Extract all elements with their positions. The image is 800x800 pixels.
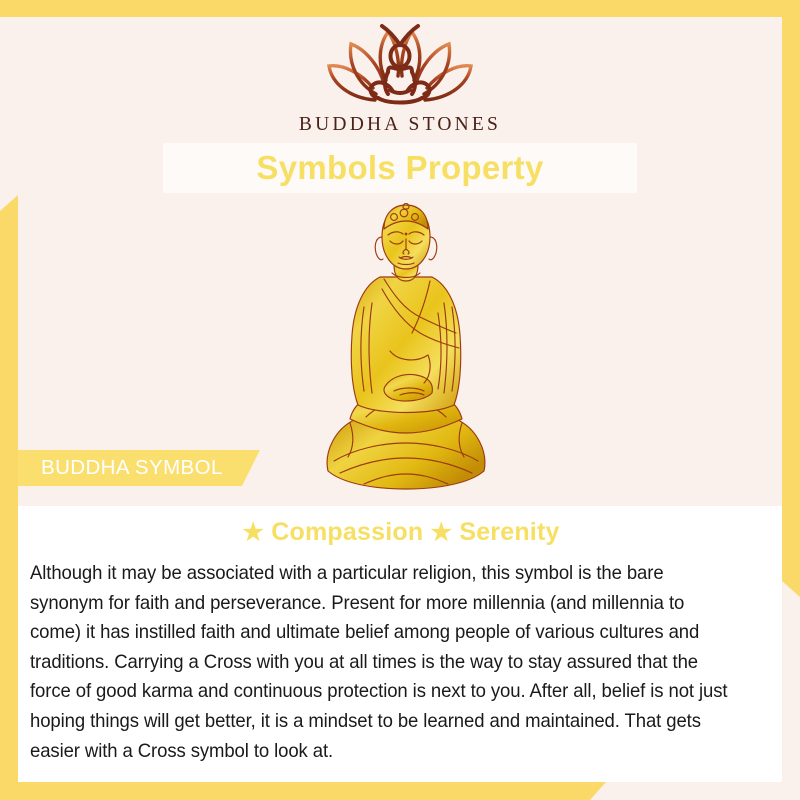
- brand-name: BUDDHA STONES: [0, 114, 800, 136]
- section-ribbon-buddha-symbol: BUDDHA SYMBOL: [18, 450, 260, 486]
- star-icon-1: ★: [242, 519, 264, 546]
- article-panel: ★ Compassion ★ Serenity Although it may …: [18, 506, 782, 782]
- star-icon-2: ★: [430, 519, 452, 546]
- seated-buddha-statue-image: [320, 203, 492, 495]
- title-banner: Symbols Property: [163, 143, 637, 193]
- decorative-band-left: [0, 195, 18, 800]
- decorative-band-top: [0, 0, 800, 17]
- lotus-meditation-icon: [318, 22, 482, 108]
- decorative-band-bottom: [0, 782, 606, 800]
- section-ribbon-label: BUDDHA SYMBOL: [18, 456, 223, 480]
- trait-serenity: Serenity: [459, 518, 559, 546]
- trait-headline: ★ Compassion ★ Serenity: [30, 518, 772, 547]
- page-title: Symbols Property: [256, 149, 543, 187]
- brand-block: BUDDHA STONES: [0, 22, 800, 136]
- poster-canvas: BUDDHA STONES Symbols Property: [0, 0, 800, 800]
- article-body-text: Although it may be associated with a par…: [30, 559, 739, 766]
- trait-compassion: Compassion: [271, 518, 423, 546]
